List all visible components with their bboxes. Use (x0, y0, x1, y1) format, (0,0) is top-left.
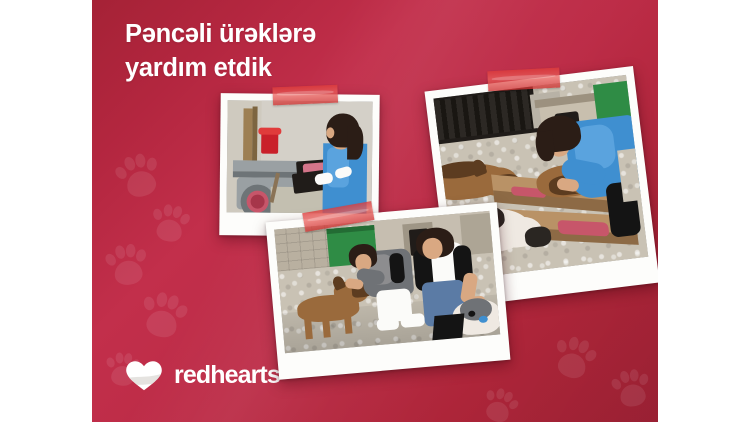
red-tape-strip (487, 68, 560, 92)
paw-print-icon (134, 286, 195, 347)
page-title: Pəncəli ürəklərə yardım etdik (125, 18, 455, 85)
photo-food-prep-image (227, 100, 373, 214)
heart-icon (125, 360, 163, 391)
paw-print-icon (102, 240, 150, 288)
paw-print-icon (608, 366, 648, 406)
paw-print-icon (110, 147, 167, 204)
red-tape-strip (272, 85, 338, 106)
photo-petting-dogs (266, 202, 511, 380)
paw-print-icon (148, 200, 188, 240)
banner-image: Pəncəli ürəklərə yardım etdik redhearts (0, 0, 750, 422)
paw-print-icon (479, 382, 516, 419)
paw-print-icon (547, 330, 600, 383)
logo-wordmark: redhearts (174, 363, 280, 388)
red-background-panel: Pəncəli ürəklərə yardım etdik redhearts (92, 0, 658, 422)
brand-logo: redhearts (125, 360, 280, 391)
photo-petting-dogs-image (274, 211, 500, 353)
